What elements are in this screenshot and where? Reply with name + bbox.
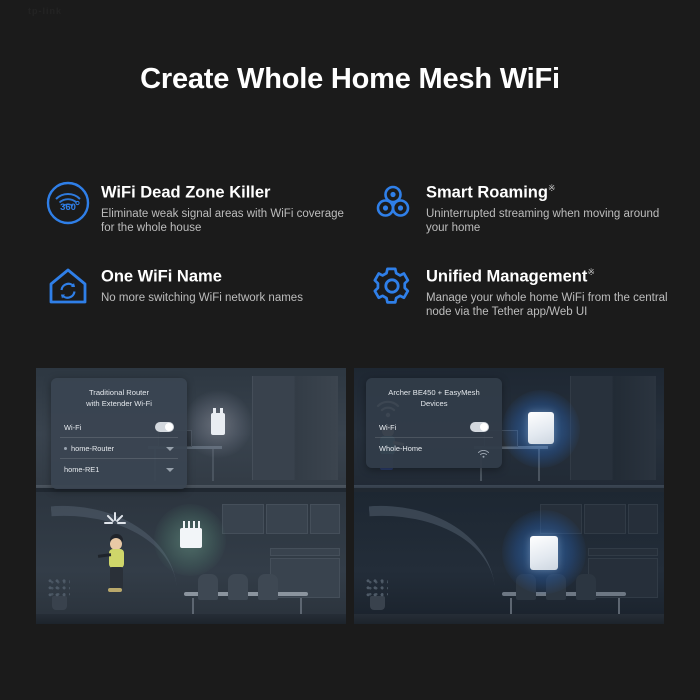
floor-divider [354,485,664,488]
feature-grid: 360 WiFi Dead Zone Killer Eliminate weak… [45,178,675,338]
frustration-marks [104,512,126,534]
feature-description: Eliminate weak signal areas with WiFi co… [101,207,350,236]
potted-plant [46,576,72,610]
chair [576,574,596,600]
feature-title: One WiFi Name [101,263,303,287]
row-label: home-RE1 [64,465,99,474]
row-label: home-Router [71,444,114,453]
card-row-whole-home[interactable]: Whole-Home [375,438,493,458]
wifi-360-icon: 360 [45,180,91,226]
feature-description: Uninterrupted streaming when moving arou… [426,207,675,236]
house-sync-icon [45,264,91,310]
feature-item-wifi-dead-zone-killer: 360 WiFi Dead Zone Killer Eliminate weak… [45,178,350,262]
easymesh-node-device [530,536,558,570]
scene-easymesh-downstairs [354,492,664,624]
panel-traditional-router: Traditional Router with Extender Wi-Fi W… [36,368,346,624]
watermark: tp-link [28,6,62,16]
wifi-toggle[interactable] [155,422,174,432]
potted-plant [364,576,390,610]
feature-superscript: ※ [587,267,595,277]
person-standing [108,534,128,596]
wifi-status-icon [478,445,489,453]
svg-text:360: 360 [60,202,76,213]
panel-easymesh: Archer BE450 + EasyMesh Devices Wi-Fi Wh… [354,368,664,624]
feature-title: WiFi Dead Zone Killer [101,179,350,203]
bullet-dot-icon [64,447,67,450]
card-row-home-router[interactable]: home-Router [60,438,178,459]
feature-title: Unified Management※ [426,263,675,287]
wifi-extender-device [211,413,225,435]
wifi-toggle[interactable] [470,422,489,432]
feature-description: No more switching WiFi network names [101,291,303,306]
chair [258,574,278,600]
card-row-home-re1[interactable]: home-RE1 [60,459,178,479]
traditional-router-card: Traditional Router with Extender Wi-Fi W… [51,378,187,489]
feature-description: Manage your whole home WiFi from the cen… [426,291,675,320]
feature-item-unified-management: Unified Management※ Manage your whole ho… [370,262,675,346]
card-row-wifi[interactable]: Wi-Fi [60,416,178,438]
feature-superscript: ※ [548,183,556,193]
card-title: Archer BE450 + EasyMesh Devices [375,387,493,409]
chevron-down-icon[interactable] [166,447,174,451]
chevron-down-icon[interactable] [166,468,174,472]
router-device [180,528,202,548]
row-label: Whole-Home [379,444,422,453]
row-label: Wi-Fi [379,423,396,432]
row-label: Wi-Fi [64,423,81,432]
easymesh-card: Archer BE450 + EasyMesh Devices Wi-Fi Wh… [366,378,502,468]
feature-title: Smart Roaming※ [426,179,675,203]
card-title: Traditional Router with Extender Wi-Fi [60,387,178,409]
comparison-panels: Traditional Router with Extender Wi-Fi W… [36,368,664,624]
floor-base [36,614,346,624]
gear-icon [370,264,416,310]
page-title: Create Whole Home Mesh WiFi [0,63,700,96]
easymesh-node-device [528,412,554,444]
card-row-wifi[interactable]: Wi-Fi [375,416,493,438]
chair [228,574,248,600]
chair [198,574,218,600]
product-feature-page: tp-link Create Whole Home Mesh WiFi 360 … [0,0,700,700]
feature-item-smart-roaming: Smart Roaming※ Uninterrupted streaming w… [370,178,675,262]
floor-base [354,614,664,624]
trefoil-roaming-icon [370,180,416,226]
wardrobe [252,376,338,480]
scene-traditional-downstairs [36,492,346,624]
wardrobe [570,376,656,480]
feature-item-one-wifi-name: One WiFi Name No more switching WiFi net… [45,262,350,346]
